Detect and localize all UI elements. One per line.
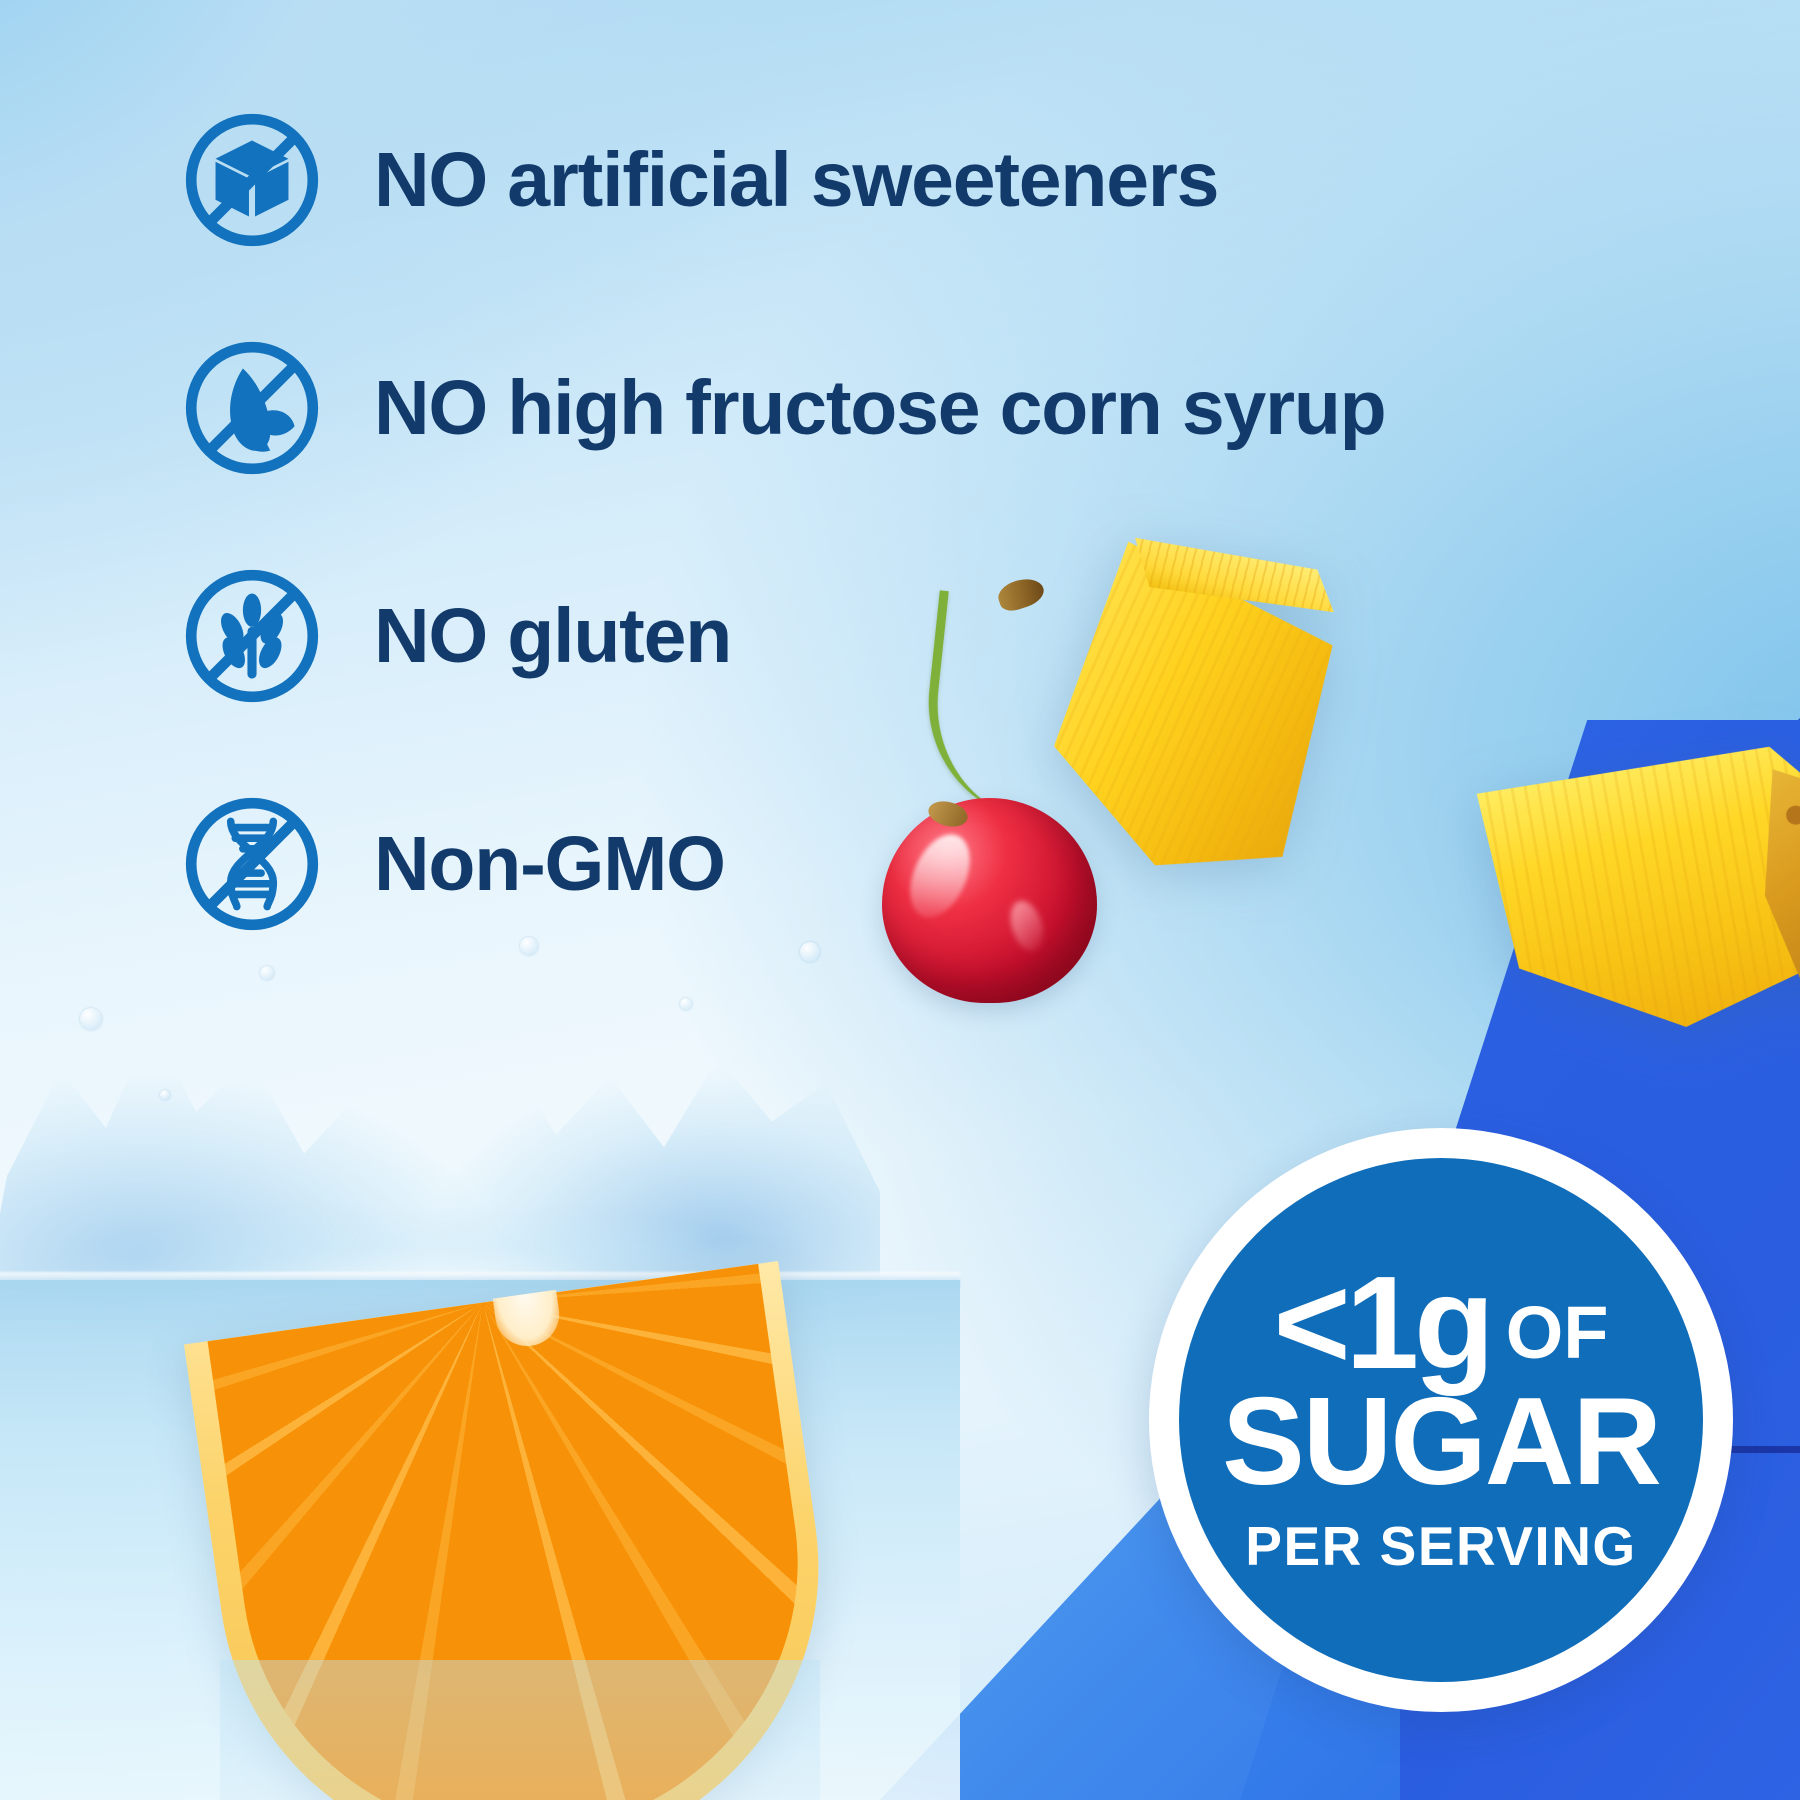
ad-canvas: NO artificial sweeteners NO high fructos… bbox=[0, 0, 1800, 1800]
submerged-overlay bbox=[220, 1660, 820, 1800]
sugar-amount: <1g bbox=[1274, 1262, 1490, 1383]
sugar-badge-line1: <1g OF bbox=[1274, 1262, 1609, 1383]
claim-label: Non-GMO bbox=[374, 826, 725, 903]
sugar-subject: SUGAR bbox=[1222, 1380, 1660, 1504]
claim-row-no-high-fructose-corn-syrup: NO high fructose corn syrup bbox=[176, 332, 1516, 484]
sugar-badge-inner: <1g OF SUGAR PER SERVING bbox=[1179, 1158, 1703, 1682]
pineapple-wedge bbox=[1475, 736, 1800, 1046]
no-sugar-cube-icon bbox=[176, 104, 328, 256]
sugar-qualifier: PER SERVING bbox=[1245, 1514, 1636, 1578]
claim-row-no-gluten: NO gluten bbox=[176, 560, 1516, 712]
claim-label: NO artificial sweeteners bbox=[374, 142, 1218, 219]
no-dna-icon bbox=[176, 788, 328, 940]
claims-list: NO artificial sweeteners NO high fructos… bbox=[176, 104, 1516, 940]
claim-row-non-gmo: Non-GMO bbox=[176, 788, 1516, 940]
sugar-of-label: OF bbox=[1506, 1299, 1609, 1367]
pineapple-wedge-flesh bbox=[1475, 736, 1800, 1046]
droplet bbox=[160, 1090, 170, 1100]
droplet bbox=[680, 998, 692, 1010]
no-corn-icon bbox=[176, 332, 328, 484]
orange-slice bbox=[220, 1300, 820, 1800]
sugar-badge: <1g OF SUGAR PER SERVING bbox=[1149, 1128, 1733, 1712]
droplet bbox=[800, 942, 820, 962]
droplet bbox=[80, 1008, 102, 1030]
claim-label: NO gluten bbox=[374, 598, 731, 675]
no-wheat-icon bbox=[176, 560, 328, 712]
droplet bbox=[260, 966, 274, 980]
claim-label: NO high fructose corn syrup bbox=[374, 370, 1386, 447]
claim-row-no-artificial-sweeteners: NO artificial sweeteners bbox=[176, 104, 1516, 256]
